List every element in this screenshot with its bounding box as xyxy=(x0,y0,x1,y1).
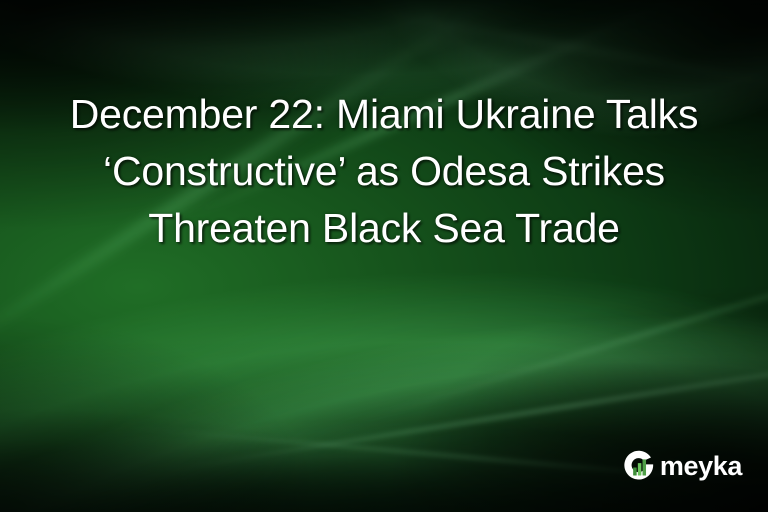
streak-diagonal-3 xyxy=(303,0,768,94)
swirl-dark-lobe-2 xyxy=(0,359,656,512)
headline-text: December 22: Miami Ukraine Talks ‘Constr… xyxy=(28,86,740,257)
circle-bar-chart-icon xyxy=(622,448,658,484)
streak-thin-3 xyxy=(343,237,768,429)
swirl-lower-3 xyxy=(0,366,768,512)
news-card: December 22: Miami Ukraine Talks ‘Constr… xyxy=(0,0,768,512)
brand-logo[interactable]: meyka xyxy=(622,446,742,486)
brand-wordmark: meyka xyxy=(660,453,742,480)
